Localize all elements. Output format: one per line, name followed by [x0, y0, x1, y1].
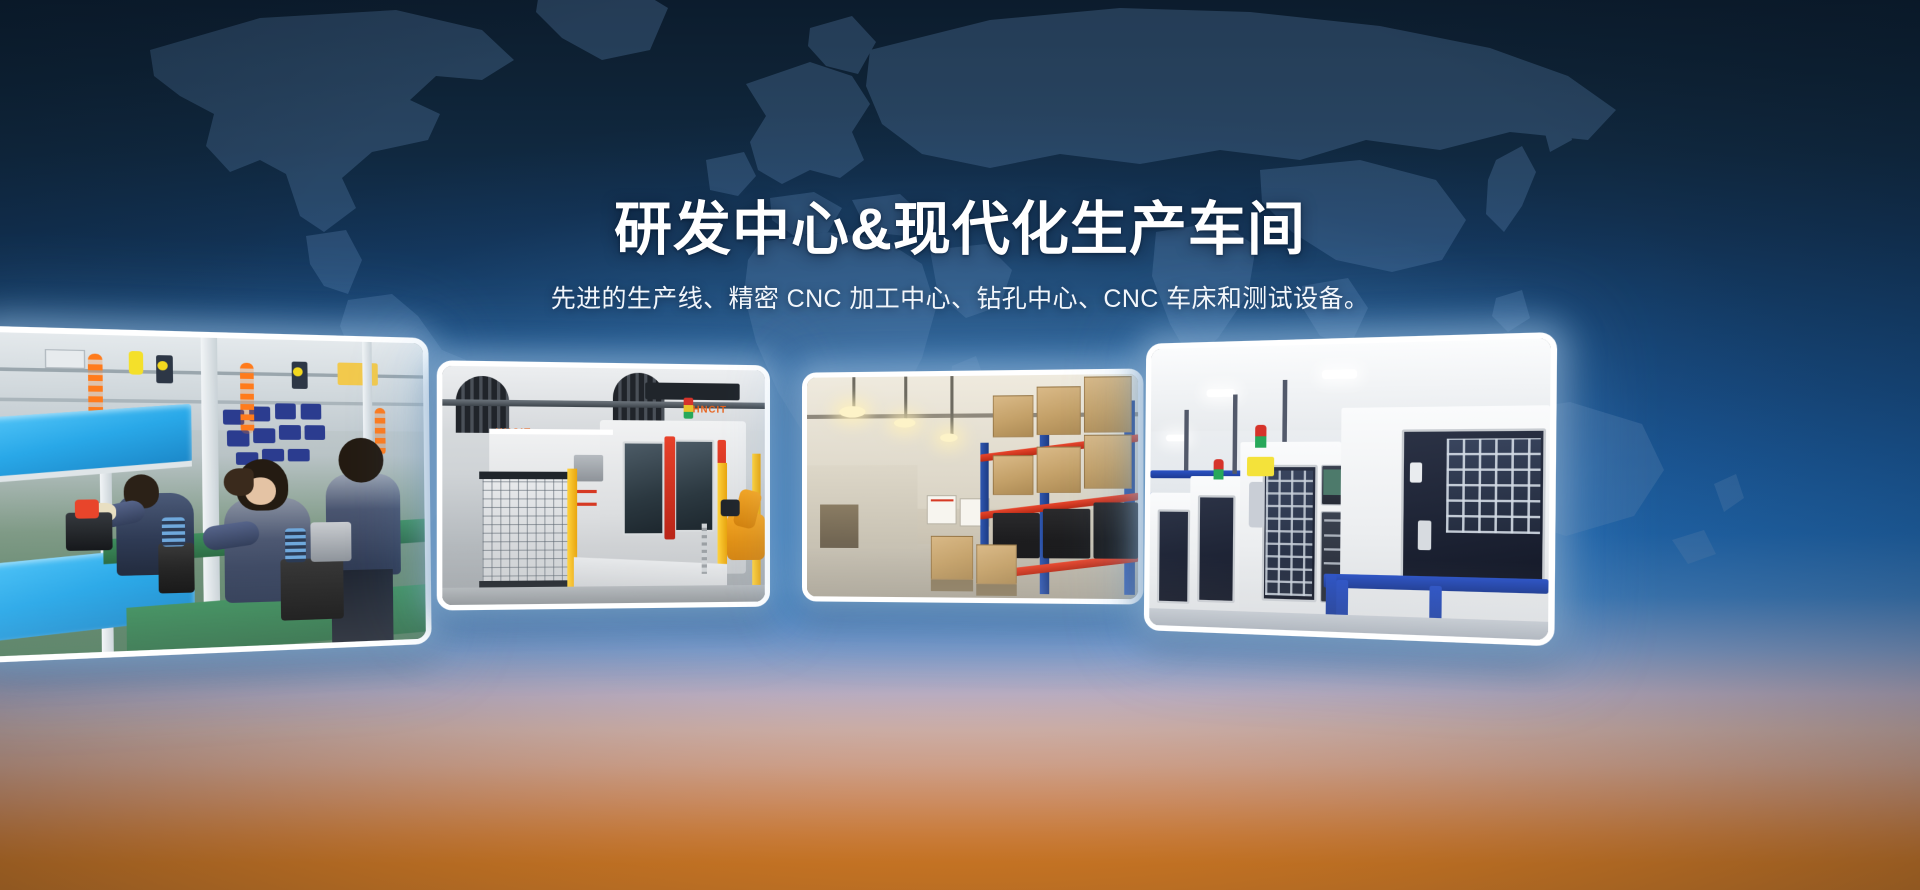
factory-photo-gallery: HNCIT HNCIT [0, 352, 1920, 652]
gallery-card-cnc-lathe-room[interactable] [1144, 332, 1557, 646]
cnc-lathe-room-photo [1149, 338, 1551, 640]
factory-hero-banner: 研发中心&现代化生产车间 先进的生产线、精密 CNC 加工中心、钻孔中心、CNC… [0, 0, 1920, 890]
assembly-line-photo [0, 332, 426, 657]
gallery-card-warehouse[interactable] [802, 368, 1143, 604]
page-title: 研发中心&现代化生产车间 [0, 196, 1920, 264]
gallery-card-assembly-line[interactable] [0, 326, 432, 664]
gallery-card-cnc-machining-center[interactable]: HNCIT HNCIT [437, 360, 770, 610]
warehouse-photo [807, 374, 1138, 599]
cnc-machining-center-photo: HNCIT HNCIT [442, 366, 764, 605]
hero-text-block: 研发中心&现代化生产车间 先进的生产线、精密 CNC 加工中心、钻孔中心、CNC… [0, 196, 1920, 317]
page-subtitle: 先进的生产线、精密 CNC 加工中心、钻孔中心、CNC 车床和测试设备。 [0, 282, 1920, 317]
